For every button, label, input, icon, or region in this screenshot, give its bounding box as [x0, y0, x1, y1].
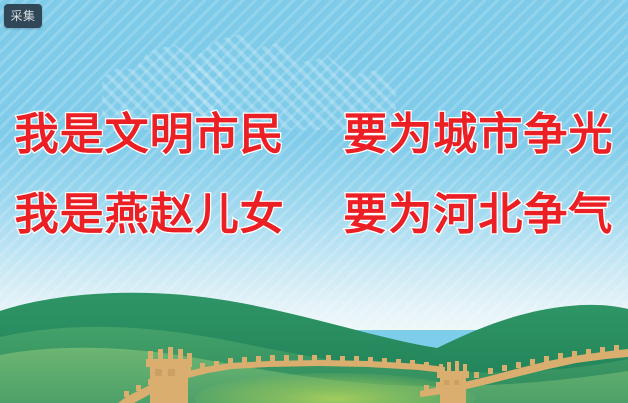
slogan-line-2-part-1: 我是燕赵儿女	[15, 178, 285, 242]
slogan-line-1: 我是文明市民 要为城市争光	[0, 98, 628, 162]
slogan-line-2: 我是燕赵儿女 要为河北争气	[0, 178, 628, 242]
slogan-line-1-part-1: 我是文明市民	[15, 98, 285, 162]
hills-and-great-wall	[0, 263, 628, 403]
slogan-line-1-part-2: 要为城市争光	[343, 98, 613, 162]
capture-button[interactable]: 采集	[4, 4, 42, 28]
slogan-line-2-part-2: 要为河北争气	[343, 178, 613, 242]
banner-screen: 我是文明市民 要为城市争光 我是燕赵儿女 要为河北争气 采集	[0, 0, 628, 403]
